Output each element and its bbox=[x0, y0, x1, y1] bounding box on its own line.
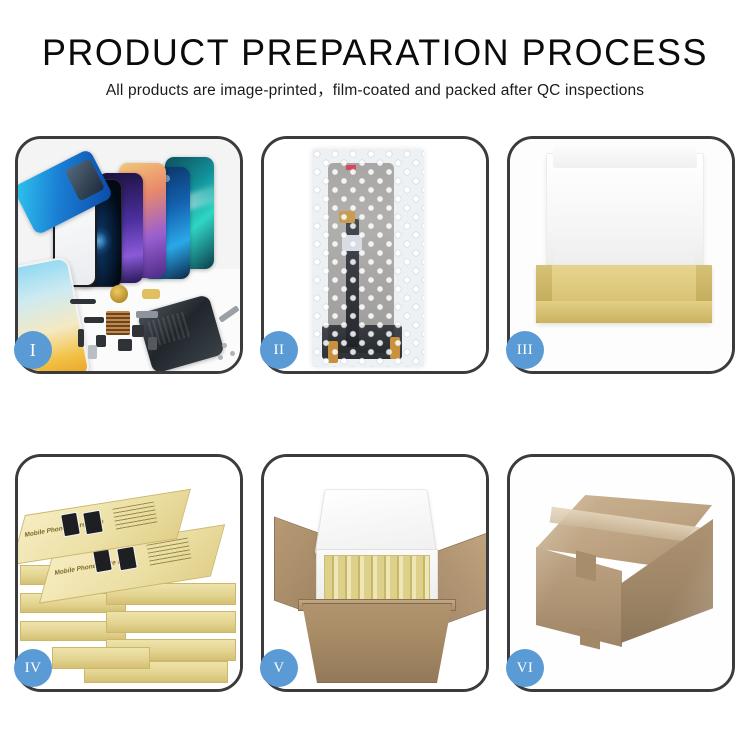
part-antenna-strip bbox=[136, 311, 158, 318]
lcd-gold-contact-right bbox=[390, 337, 400, 359]
part-earpiece bbox=[118, 339, 132, 351]
stack-box-thumbnail-2b bbox=[116, 546, 138, 572]
step-1-image bbox=[18, 139, 240, 371]
step-3-image bbox=[510, 139, 732, 371]
part-flex-cable bbox=[84, 317, 104, 323]
part-screw-1 bbox=[222, 343, 227, 348]
step-2-image bbox=[264, 139, 486, 371]
process-step-panel-2[interactable]: II bbox=[261, 136, 489, 374]
carton-seam-tab-upper bbox=[576, 551, 596, 582]
step-4-image: Mobile Phone Spare Parts Mobile Phone Sp… bbox=[18, 457, 240, 689]
packed-yellow-boxes bbox=[324, 555, 430, 603]
part-screw-3 bbox=[218, 355, 223, 360]
stack-box-right-2 bbox=[106, 611, 236, 633]
stack-box-front bbox=[52, 647, 150, 669]
process-step-panel-3[interactable]: III bbox=[507, 136, 735, 374]
carton-body bbox=[302, 603, 452, 683]
part-screw-2 bbox=[230, 351, 235, 356]
process-step-panel-5[interactable]: V bbox=[261, 454, 489, 692]
box-stack: Mobile Phone Spare Parts Mobile Phone Sp… bbox=[18, 465, 240, 687]
process-step-panel-4[interactable]: Mobile Phone Spare Parts Mobile Phone Sp… bbox=[15, 454, 243, 692]
lcd-driver-chip bbox=[342, 235, 362, 251]
step-number-badge-1: I bbox=[14, 331, 52, 369]
step-number-badge-4: IV bbox=[14, 649, 52, 687]
part-sim-tray bbox=[88, 345, 97, 359]
part-camera-module bbox=[96, 335, 106, 347]
process-step-panel-6[interactable]: VI bbox=[507, 454, 735, 692]
step-number-badge-3: III bbox=[506, 331, 544, 369]
process-step-panel-1[interactable]: I bbox=[15, 136, 243, 374]
part-taptic-engine bbox=[132, 325, 144, 337]
lcd-gold-contact-left bbox=[328, 341, 338, 363]
kraft-tray-front bbox=[536, 301, 712, 323]
page-title: PRODUCT PREPARATION PROCESS bbox=[11, 34, 739, 71]
process-step-grid: I II bbox=[0, 136, 750, 692]
part-vibration-motor bbox=[110, 285, 128, 303]
page-header: PRODUCT PREPARATION PROCESS All products… bbox=[0, 0, 750, 99]
bubble-wrap-bag bbox=[312, 149, 424, 367]
part-speaker-mesh bbox=[70, 299, 96, 304]
step-5-image bbox=[264, 457, 486, 689]
lcd-connector bbox=[339, 211, 355, 223]
part-gold-flex bbox=[142, 289, 160, 299]
part-power-button-flex bbox=[78, 329, 84, 347]
step-number-badge-6: VI bbox=[506, 649, 544, 687]
step-6-image bbox=[510, 457, 732, 689]
part-battery-connector bbox=[148, 337, 157, 350]
step-number-badge-5: V bbox=[260, 649, 298, 687]
lcd-label-sticker bbox=[346, 165, 356, 170]
white-foam-padding bbox=[554, 191, 694, 275]
step-number-badge-2: II bbox=[260, 331, 298, 369]
page-subtitle: All products are image-printed，film-coat… bbox=[0, 83, 750, 99]
part-shield-grid bbox=[106, 311, 130, 335]
styrofoam-lid bbox=[315, 489, 438, 554]
stack-box-thumbnail-1b bbox=[82, 510, 104, 536]
